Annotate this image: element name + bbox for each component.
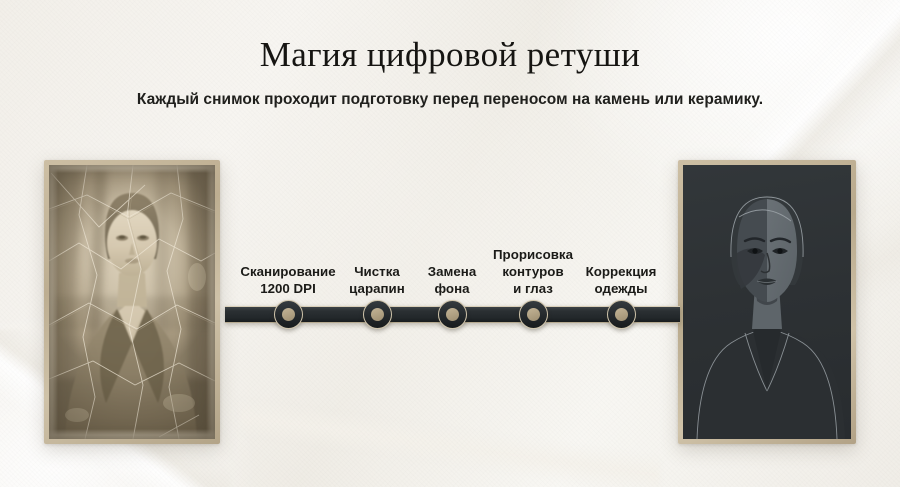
page-title: Магия цифровой ретуши (0, 35, 900, 75)
timeline-node-outline[interactable] (519, 300, 548, 329)
timeline-node-dot (527, 308, 540, 321)
timeline-node-clean[interactable] (363, 300, 392, 329)
timeline-label-clothes: Коррекцияодежды (556, 264, 686, 298)
page-subtitle: Каждый снимок проходит подготовку перед … (0, 91, 900, 109)
timeline-node-dot (282, 308, 295, 321)
timeline-label-line: одежды (556, 281, 686, 298)
before-photo (49, 165, 215, 439)
slide-canvas: Магия цифровой ретуши Каждый снимок прох… (0, 0, 900, 487)
timeline-node-scan[interactable] (274, 300, 303, 329)
timeline-label-line: Коррекция (556, 264, 686, 281)
timeline-node-dot (371, 308, 384, 321)
process-timeline: Сканирование1200 DPIЧисткацарапинЗаменаф… (225, 160, 680, 444)
after-portrait-figure (683, 165, 851, 439)
timeline-node-bg[interactable] (438, 300, 467, 329)
before-photo-vignette (49, 165, 215, 439)
after-photo (683, 165, 851, 439)
timeline-node-clothes[interactable] (607, 300, 636, 329)
header: Магия цифровой ретуши Каждый снимок прох… (0, 0, 900, 109)
timeline-label-line: Прорисовка (468, 247, 598, 264)
timeline-node-dot (446, 308, 459, 321)
before-photo-frame (44, 160, 220, 444)
timeline-node-dot (615, 308, 628, 321)
after-photo-frame (678, 160, 856, 444)
